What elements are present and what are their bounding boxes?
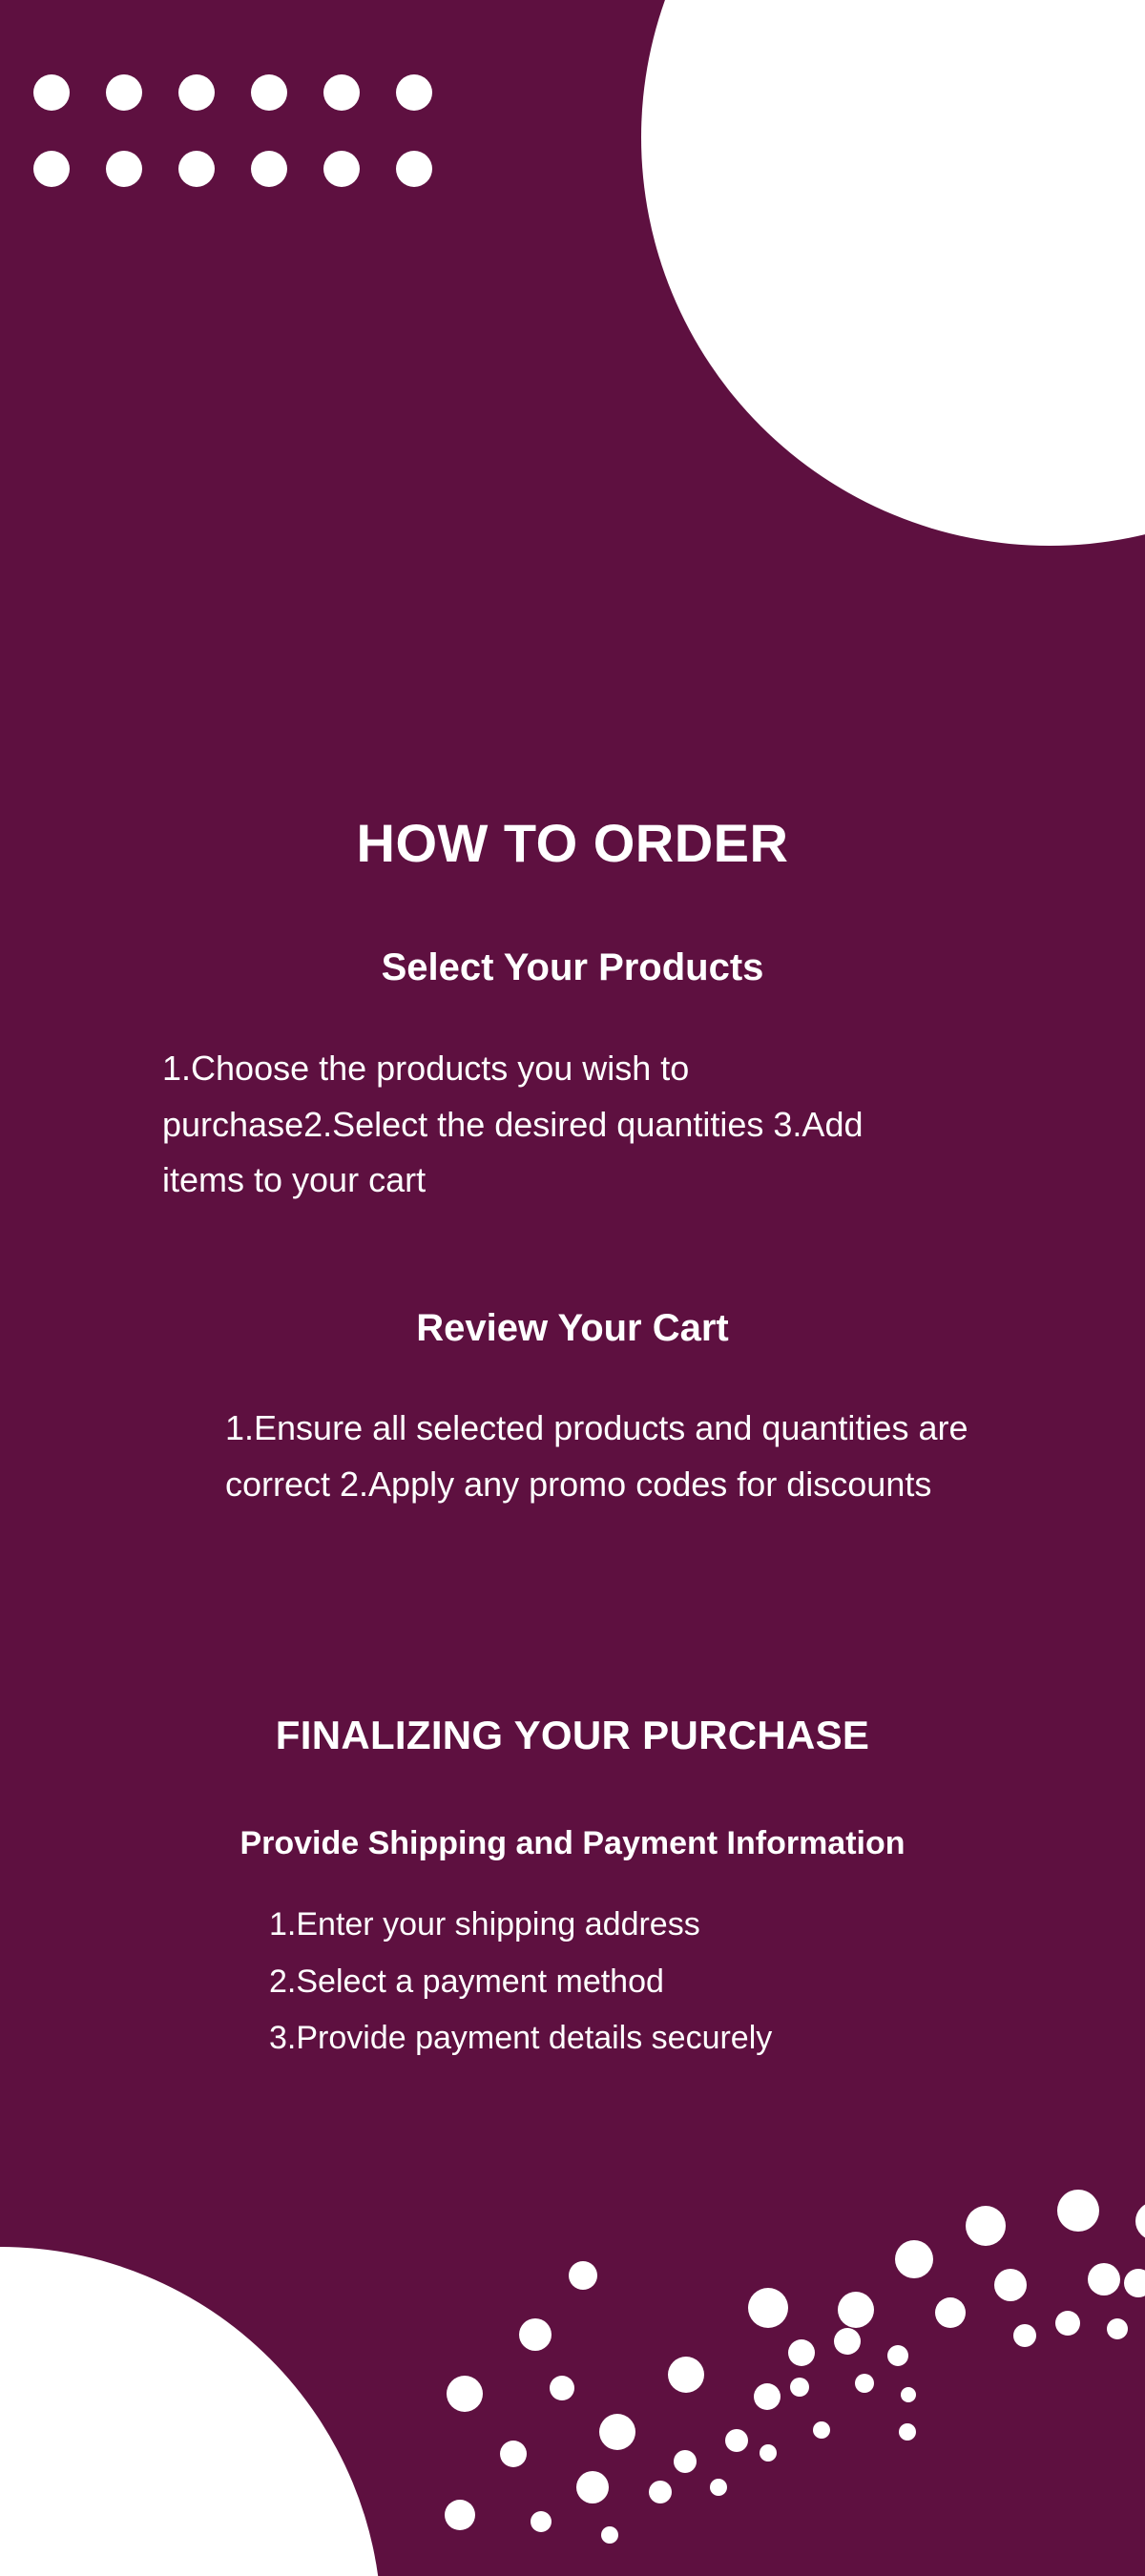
page-title-finalizing-your-purchase: FINALIZING YOUR PURCHASE — [0, 1714, 1145, 1757]
list-item: 2.Select a payment method — [269, 1954, 994, 2011]
page-title-how-to-order: HOW TO ORDER — [0, 814, 1145, 873]
list-item: 1.Enter your shipping address — [269, 1897, 994, 1954]
subheading-review-your-cart: Review Your Cart — [0, 1306, 1145, 1350]
poster-canvas: HOW TO ORDER Select Your Products 1.Choo… — [0, 0, 1145, 2576]
subheading-select-your-products: Select Your Products — [0, 945, 1145, 989]
list-item: 3.Provide payment details securely — [269, 2010, 994, 2067]
subheading-provide-shipping-and-payment-information: Provide Shipping and Payment Information — [0, 1825, 1145, 1862]
body-finalizing-steps-list: 1.Enter your shipping address 2.Select a… — [269, 1897, 994, 2067]
body-select-your-products-steps: 1.Choose the products you wish to purcha… — [162, 1041, 954, 1209]
body-review-your-cart-steps: 1.Ensure all selected products and quant… — [225, 1401, 979, 1512]
poster-content: HOW TO ORDER Select Your Products 1.Choo… — [0, 0, 1145, 2576]
